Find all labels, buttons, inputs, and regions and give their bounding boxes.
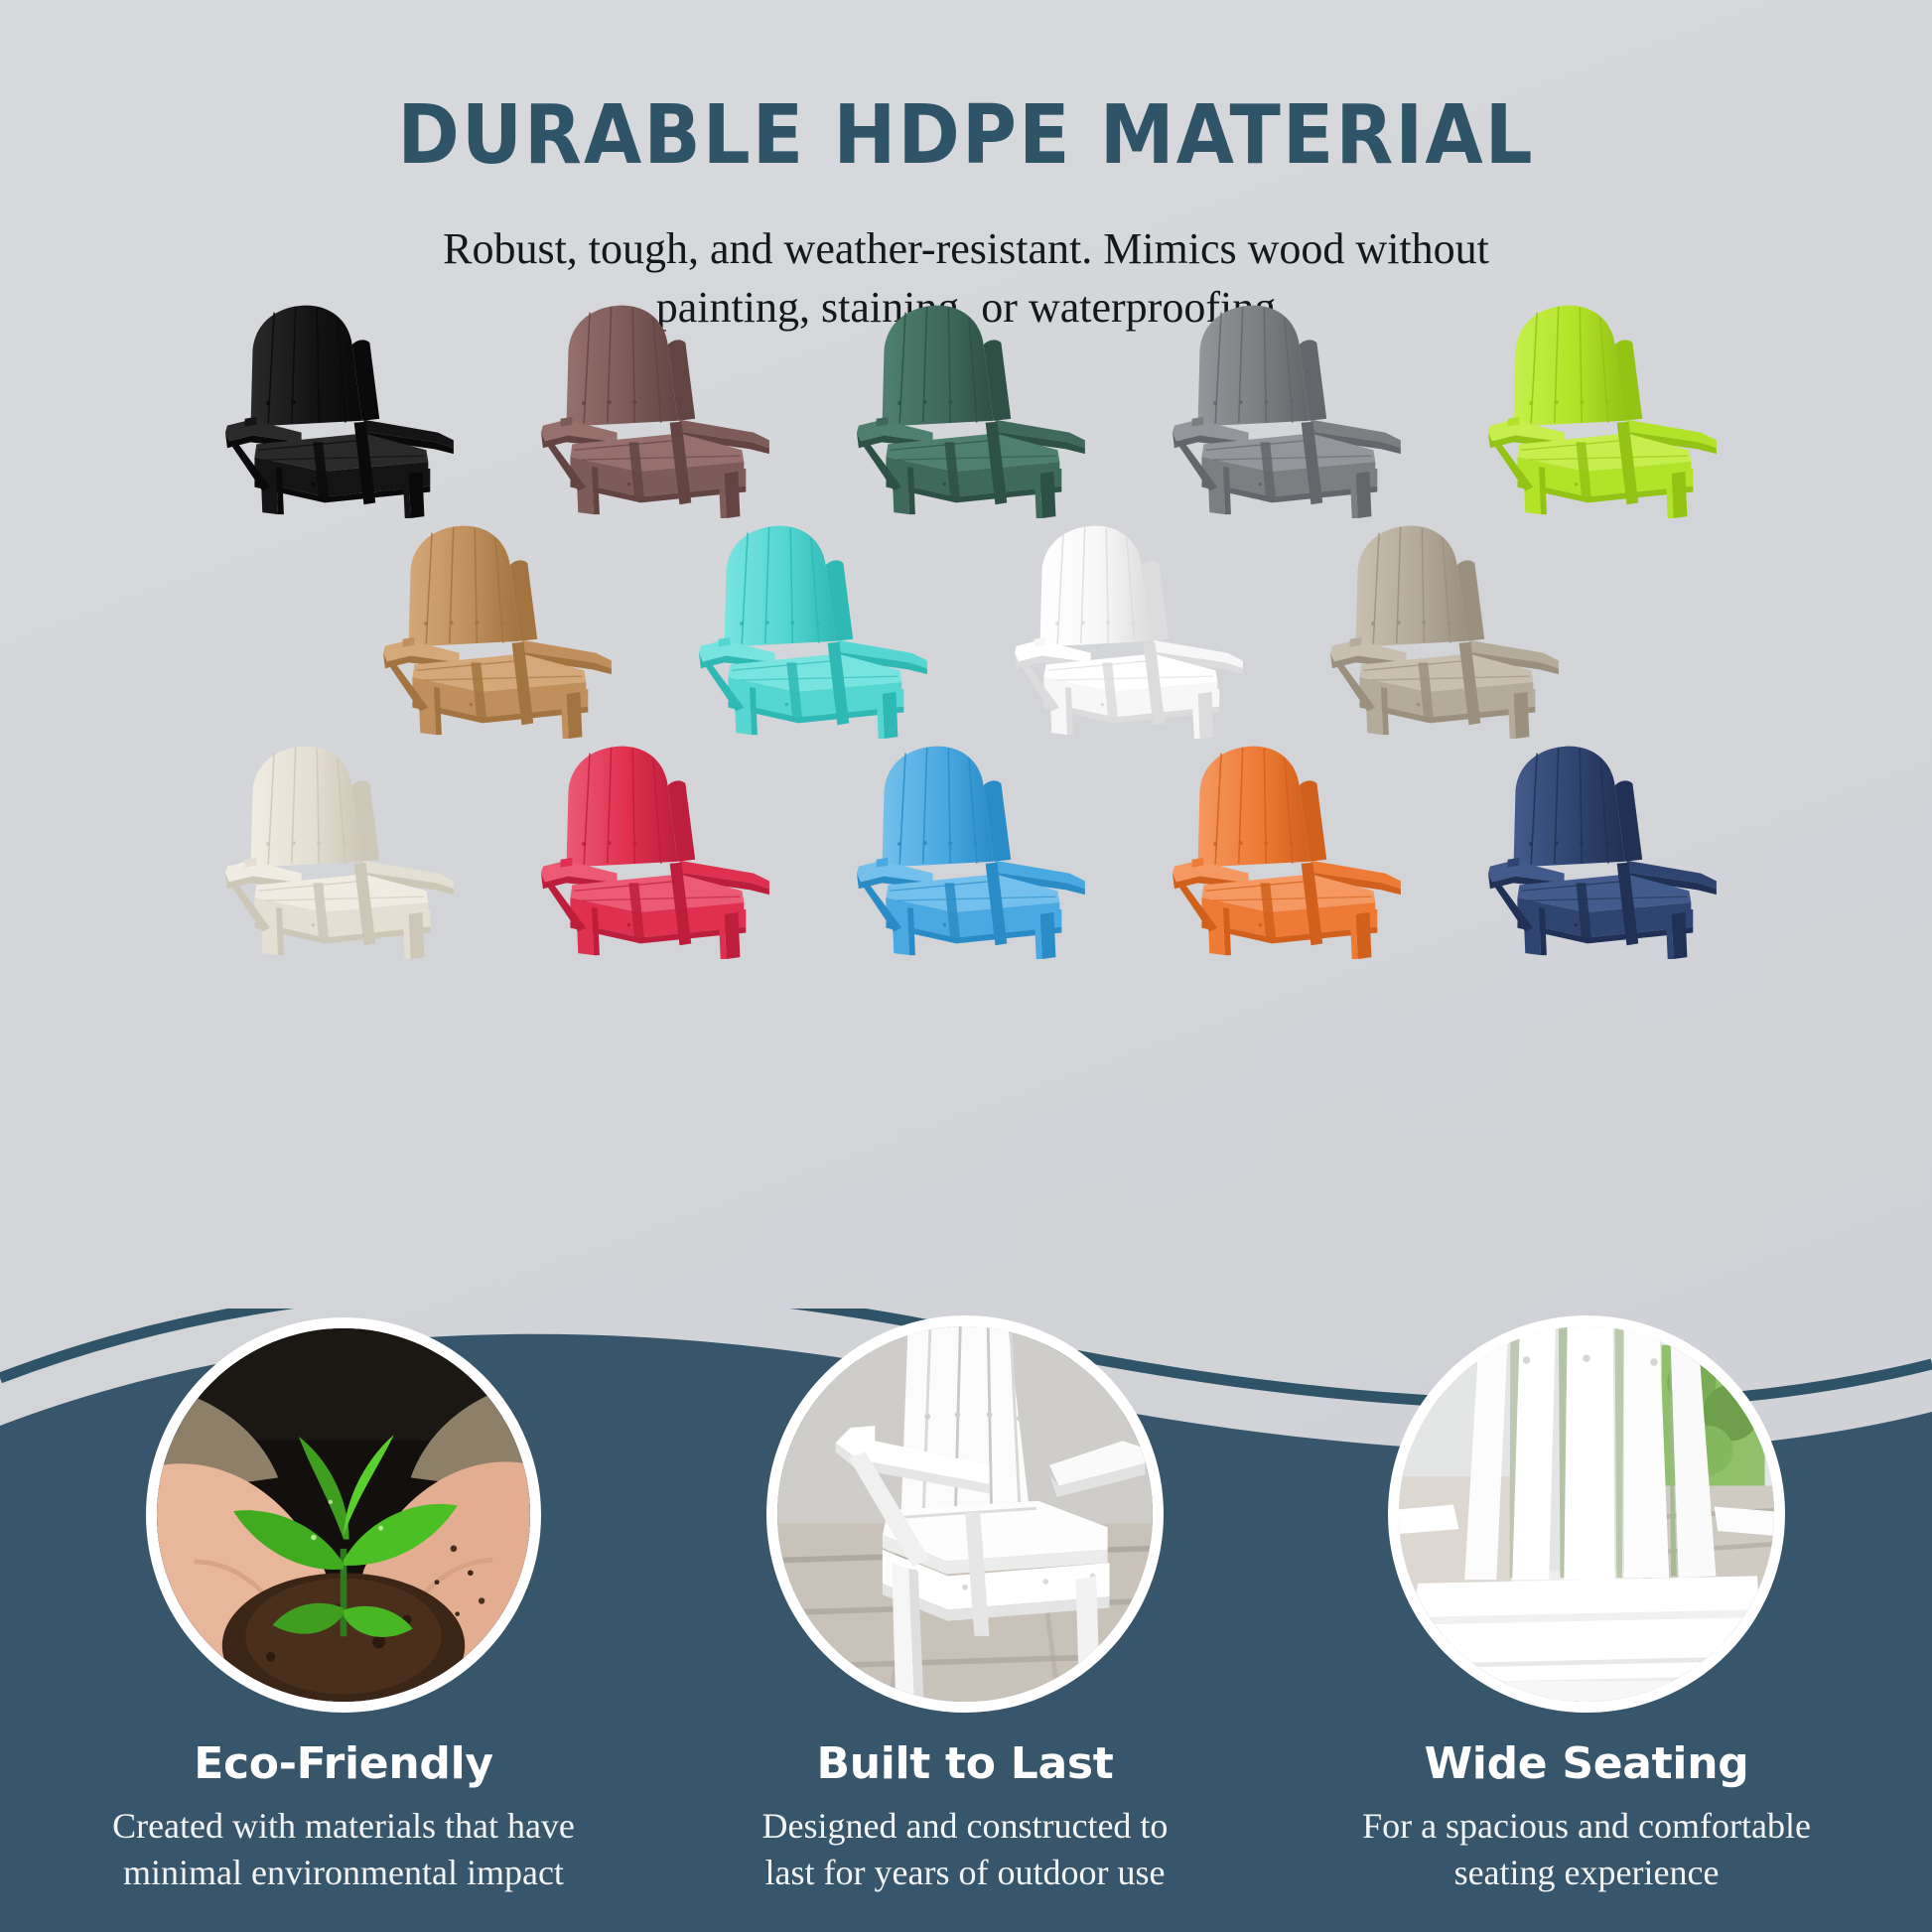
feature-desc-line-2: last for years of outdoor use [765,1853,1166,1892]
chair-swatch-turquoise[interactable] [674,514,942,741]
chair-swatch-red[interactable] [516,735,784,961]
chair-brown [521,296,779,520]
chair-orange [1153,737,1411,961]
chair-back [882,747,1011,868]
feature-desc-eco-friendly: Created with materials that have minimal… [66,1803,621,1896]
feature-desc-line-2: minimal environmental impact [123,1853,564,1892]
chair-lime-green [1468,296,1726,520]
chair-taupe [1311,516,1569,741]
feature-built-to-last: Built to Last Designed and constructed t… [667,1315,1263,1932]
seating-photo [1399,1326,1774,1702]
feature-desc-line-1: Designed and constructed to [762,1806,1169,1846]
subtitle-line-1: Robust, tough, and weather-resistant. Mi… [443,224,1489,273]
feature-title-built-to-last: Built to Last [667,1738,1263,1789]
chair-teak [363,516,621,741]
built-photo [777,1326,1153,1702]
chair-back [1197,306,1326,427]
chair-swatch-gray[interactable] [1148,294,1416,520]
feature-desc-line-1: For a spacious and comfortable [1362,1806,1811,1846]
chair-sky-blue [837,737,1095,961]
chair-back [1355,526,1484,647]
eco-photo [157,1328,530,1702]
chair-color-grid [0,294,1932,961]
feature-eco-friendly: Eco-Friendly Created with materials that… [46,1317,641,1932]
feature-desc-wide-seating: For a spacious and comfortable seating e… [1309,1803,1864,1896]
chair-swatch-taupe[interactable] [1306,514,1574,741]
feature-image-built-to-last [766,1315,1164,1713]
chair-back [566,747,695,868]
header: DURABLE HDPE MATERIAL Robust, tough, and… [0,0,1932,337]
chair-back [408,526,537,647]
chair-row-1 [0,294,1932,520]
chair-swatch-navy[interactable] [1463,735,1731,961]
chair-back [724,526,853,647]
chair-swatch-orange[interactable] [1148,735,1416,961]
feature-desc-line-1: Created with materials that have [112,1806,575,1846]
chair-swatch-black[interactable] [201,294,469,520]
chair-swatch-teak[interactable] [358,514,626,741]
chair-row-3 [0,735,1932,961]
chair-back [566,306,695,427]
chair-gray [1153,296,1411,520]
features-section: Eco-Friendly Created with materials that… [0,1197,1932,1932]
chair-dark-green [837,296,1095,520]
feature-desc-line-2: seating experience [1454,1853,1720,1892]
chair-swatch-lime-green[interactable] [1463,294,1731,520]
chair-swatch-sky-blue[interactable] [832,735,1100,961]
page-title: DURABLE HDPE MATERIAL [0,95,1932,177]
chair-swatch-ivory[interactable] [201,735,469,961]
chair-back [1513,306,1642,427]
chair-back [1039,526,1169,647]
chair-back [1197,747,1326,868]
chair-swatch-white[interactable] [990,514,1258,741]
chair-back [250,747,379,868]
feature-title-wide-seating: Wide Seating [1289,1738,1884,1789]
feature-desc-built-to-last: Designed and constructed to last for yea… [687,1803,1243,1896]
chair-swatch-brown[interactable] [516,294,784,520]
chair-back [250,306,379,427]
chair-red [521,737,779,961]
feature-title-eco-friendly: Eco-Friendly [46,1738,641,1789]
chair-black [206,296,464,520]
feature-wide-seating: Wide Seating For a spacious and comforta… [1289,1315,1884,1932]
chair-back [1513,747,1642,868]
chair-navy [1468,737,1726,961]
infographic-canvas: DURABLE HDPE MATERIAL Robust, tough, and… [0,0,1932,1932]
chair-row-2 [0,514,1932,741]
chair-swatch-dark-green[interactable] [832,294,1100,520]
chair-ivory [206,737,464,961]
feature-image-eco-friendly [146,1317,541,1713]
feature-image-wide-seating [1388,1315,1785,1713]
chair-white [995,516,1253,741]
chair-back [882,306,1011,427]
chair-turquoise [679,516,937,741]
